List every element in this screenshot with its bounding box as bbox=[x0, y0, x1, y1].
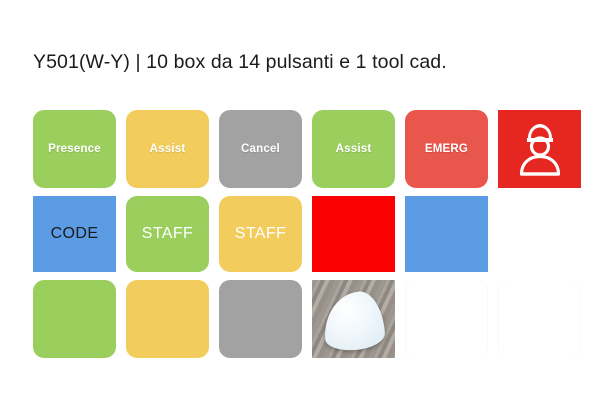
button-assist-1[interactable]: Assist bbox=[126, 110, 209, 188]
swatch-gray[interactable] bbox=[219, 280, 302, 358]
button-label: Cancel bbox=[241, 143, 280, 155]
button-label: CODE bbox=[51, 225, 99, 243]
swatch-red[interactable] bbox=[312, 196, 395, 272]
placeholder-tile-1 bbox=[405, 280, 488, 358]
button-staff-yellow[interactable]: STAFF bbox=[219, 196, 302, 272]
page-title: Y501(W-Y) | 10 box da 14 pulsanti e 1 to… bbox=[33, 48, 447, 76]
button-grid: Presence Assist Cancel Assist EMERG bbox=[33, 110, 568, 358]
teardrop-tool-icon bbox=[322, 290, 386, 352]
button-label: STAFF bbox=[142, 225, 193, 243]
grid-cell-assist-1[interactable]: Assist bbox=[126, 110, 209, 188]
grid-cell-cancel[interactable]: Cancel bbox=[219, 110, 302, 188]
grid-cell-staff-yellow[interactable]: STAFF bbox=[219, 196, 302, 272]
button-staff-green[interactable]: STAFF bbox=[126, 196, 209, 272]
grid-cell-emerg[interactable]: EMERG bbox=[405, 110, 488, 188]
grid-cell-outline-r3c6 bbox=[498, 280, 581, 358]
grid-cell-empty-r2c6 bbox=[498, 196, 581, 272]
button-label: Assist bbox=[150, 143, 186, 155]
swatch-green[interactable] bbox=[33, 280, 116, 358]
grid-cell-nurse-call[interactable] bbox=[498, 110, 581, 188]
button-presence[interactable]: Presence bbox=[33, 110, 116, 188]
grid-cell-swatch-green[interactable] bbox=[33, 280, 116, 358]
button-cancel[interactable]: Cancel bbox=[219, 110, 302, 188]
nurse-icon bbox=[512, 119, 568, 179]
grid-cell-presence[interactable]: Presence bbox=[33, 110, 116, 188]
grid-cell-staff-green[interactable]: STAFF bbox=[126, 196, 209, 272]
button-emerg[interactable]: EMERG bbox=[405, 110, 488, 188]
tool-photo[interactable] bbox=[312, 280, 395, 358]
button-label: Assist bbox=[336, 143, 372, 155]
grid-cell-assist-2[interactable]: Assist bbox=[312, 110, 395, 188]
button-code[interactable]: CODE bbox=[33, 196, 116, 272]
grid-cell-swatch-yellow[interactable] bbox=[126, 280, 209, 358]
grid-cell-outline-r3c5 bbox=[405, 280, 488, 358]
grid-cell-swatch-blue[interactable] bbox=[405, 196, 488, 272]
button-label: Presence bbox=[48, 143, 101, 155]
button-assist-2[interactable]: Assist bbox=[312, 110, 395, 188]
swatch-yellow[interactable] bbox=[126, 280, 209, 358]
swatch-blue[interactable] bbox=[405, 196, 488, 272]
grid-cell-code[interactable]: CODE bbox=[33, 196, 116, 272]
button-label: STAFF bbox=[235, 225, 286, 243]
page-root: Y501(W-Y) | 10 box da 14 pulsanti e 1 to… bbox=[0, 0, 600, 400]
button-label: EMERG bbox=[425, 143, 468, 155]
grid-cell-swatch-gray[interactable] bbox=[219, 280, 302, 358]
tile-nurse-call[interactable] bbox=[498, 110, 581, 188]
placeholder-tile-2 bbox=[498, 280, 581, 358]
grid-cell-swatch-red[interactable] bbox=[312, 196, 395, 272]
grid-cell-tool-photo[interactable] bbox=[312, 280, 395, 358]
